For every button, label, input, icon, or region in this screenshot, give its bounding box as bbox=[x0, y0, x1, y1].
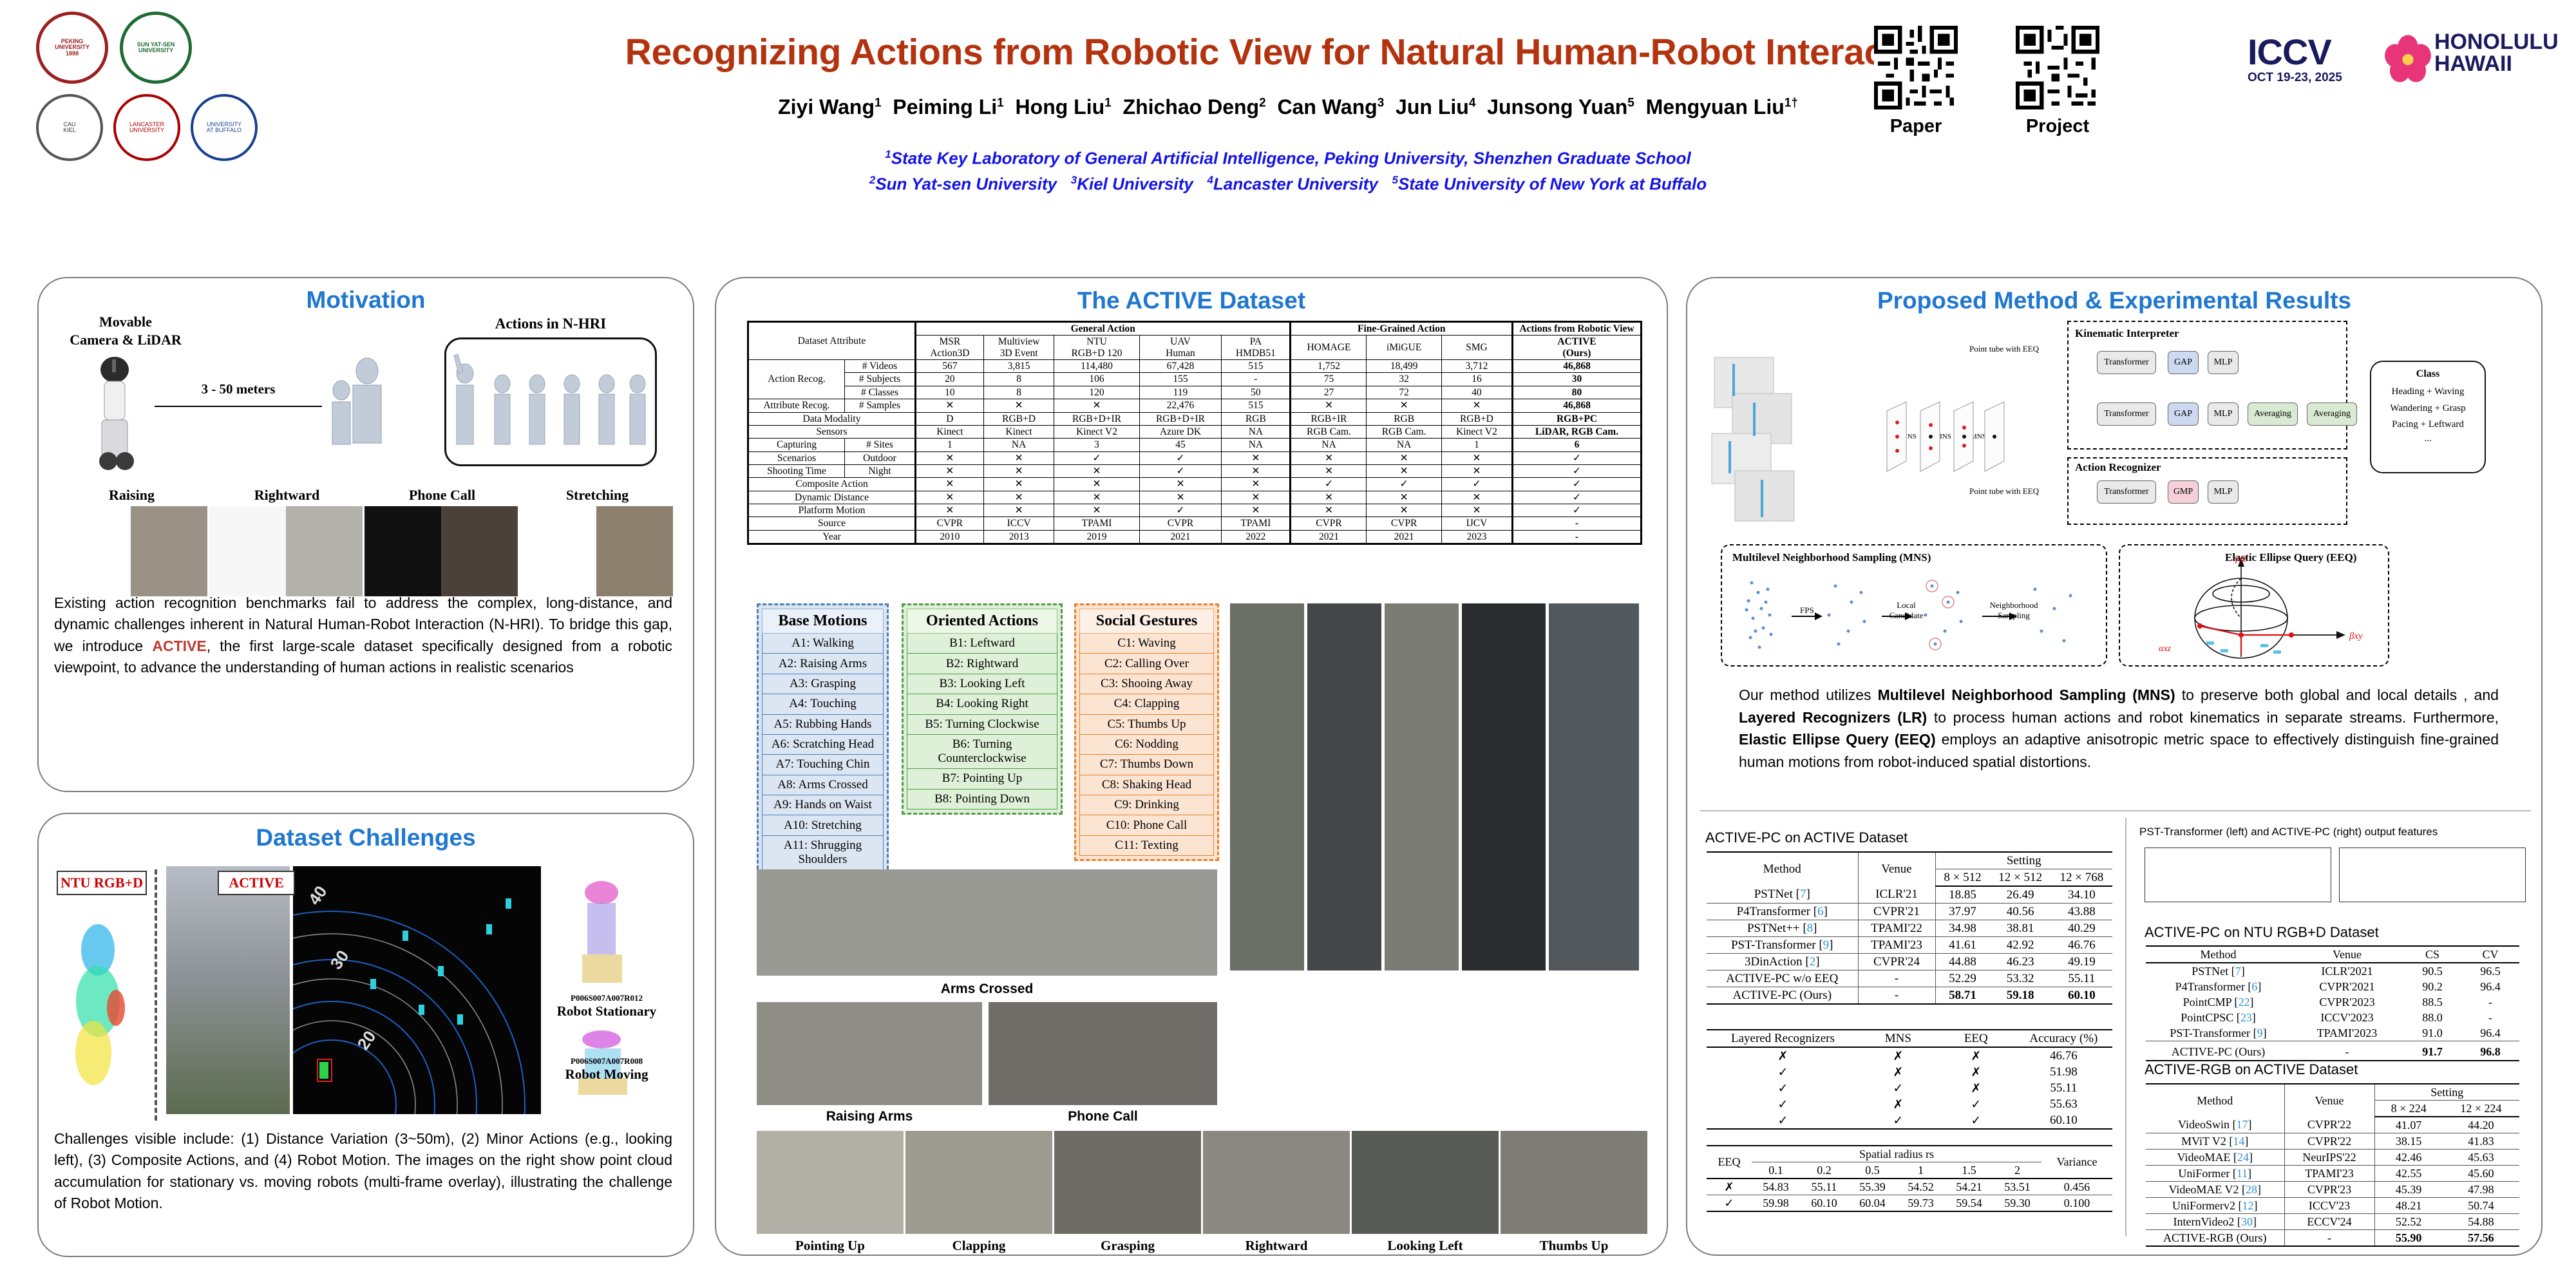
poster-header: PEKING UNIVERSITY 1898 SUN YAT-SEN UNIVE… bbox=[0, 0, 2576, 258]
table-col-pa: PAHMDB51 bbox=[1222, 336, 1291, 360]
table-row: ✗✗✗46.76 bbox=[1707, 1047, 2112, 1064]
transformer-block-mid: Transformer bbox=[2097, 402, 2156, 426]
gallery-label-1: Rightward bbox=[209, 487, 365, 504]
cell-value: 34.98 bbox=[1935, 920, 1989, 937]
row-label: Outdoor bbox=[845, 451, 916, 464]
sample-tile bbox=[1203, 1131, 1350, 1234]
cell-variance: 0.100 bbox=[2041, 1195, 2112, 1212]
rgb-col-setting: Setting bbox=[2374, 1084, 2519, 1101]
table-cell: ✕ bbox=[1054, 491, 1139, 504]
author-item: Can Wang3 bbox=[1277, 95, 1384, 118]
affiliation-2-text: Sun Yat-sen University bbox=[875, 175, 1057, 194]
badge-active: ACTIVE bbox=[218, 871, 295, 895]
table-cell: ✕ bbox=[1441, 464, 1512, 477]
point-tube-eeq-label-top: Point tube with EEQ bbox=[1969, 344, 2039, 354]
cell-value: 54.88 bbox=[2443, 1214, 2519, 1230]
logo-sun-yat-sen-university: SUN YAT-SEN UNIVERSITY bbox=[120, 12, 192, 84]
method-title: Proposed Method & Experimental Results bbox=[1686, 287, 2543, 314]
cell-cv: 96.5 bbox=[2461, 963, 2519, 979]
cell-value: 45.39 bbox=[2374, 1182, 2443, 1198]
cell-value: 44.88 bbox=[1935, 954, 1989, 971]
ntu-pointcloud-icon bbox=[58, 905, 142, 1111]
affiliation-3-text: Kiel University bbox=[1077, 175, 1193, 194]
table-cell: 67,428 bbox=[1139, 360, 1222, 373]
cell-method: PointCMP [22] bbox=[2146, 994, 2291, 1010]
table-cell: 16 bbox=[1441, 373, 1512, 386]
table-group-general: General Action bbox=[916, 322, 1291, 336]
cell-method: PSTNet [7] bbox=[1707, 886, 1858, 904]
affiliation-4-sup: 4 bbox=[1207, 174, 1213, 186]
qr-code-project[interactable] bbox=[2016, 26, 2099, 109]
col-mns: MNS bbox=[1859, 1030, 1937, 1047]
gap-block-top: GAP bbox=[2168, 351, 2199, 374]
table-cell: Kinect V2 bbox=[1441, 425, 1512, 438]
challenges-divider bbox=[155, 869, 157, 1121]
class-output-title: Class bbox=[2371, 368, 2485, 380]
method-paragraph-0: Our method utilizes bbox=[1739, 687, 1878, 703]
table-cell: 2010 bbox=[916, 530, 984, 544]
category-item: B8: Pointing Down bbox=[907, 790, 1057, 810]
col-accuracy: Accuracy (%) bbox=[2015, 1030, 2112, 1047]
cell-cs: 91.7 bbox=[2403, 1041, 2461, 1061]
method-paragraph-2: to preserve both global and local detail… bbox=[2175, 687, 2499, 703]
table-cell: ✕ bbox=[1291, 491, 1367, 504]
logo-lancaster-university: LANCASTER UNIVERSITY bbox=[113, 94, 180, 161]
table-cell: 155 bbox=[1139, 373, 1222, 386]
table-cell: ✕ bbox=[1367, 464, 1441, 477]
affiliation-line-1: 1State Key Laboratory of General Artific… bbox=[451, 148, 2125, 169]
cell-venue: TPAMI'23 bbox=[1858, 937, 1935, 954]
results-horizontal-divider bbox=[1700, 810, 2531, 811]
class-output-box: Class Heading + Waving Wandering + Grasp… bbox=[2370, 361, 2486, 473]
table-row: Data ModalityDRGB+DRGB+D+IRRGB+D+IRRGBRG… bbox=[748, 412, 1642, 425]
point-tube-eeq-label-bottom: Point tube with EEQ bbox=[1969, 486, 2039, 497]
category-item: C11: Texting bbox=[1079, 836, 1214, 856]
table-row: # Classes1081201195027724080 bbox=[748, 386, 1642, 399]
caption-pointing-up: Pointing Up bbox=[757, 1238, 904, 1254]
cell-venue: - bbox=[1858, 987, 1935, 1005]
caption-raising-arms: Raising Arms bbox=[757, 1109, 982, 1124]
category-item: A9: Hands on Waist bbox=[762, 795, 884, 815]
table-cell: Kinect bbox=[916, 425, 984, 438]
cell-venue: CVPR'22 bbox=[2284, 1133, 2374, 1150]
table-cell: RGB Cam. bbox=[1367, 425, 1441, 438]
mns-step-fps: FPS bbox=[1800, 605, 1814, 616]
cell-method: ACTIVE-PC (Ours) bbox=[1707, 987, 1858, 1005]
gallery-image bbox=[209, 506, 363, 596]
table-cell: 3,815 bbox=[983, 360, 1054, 373]
category-social-gestures-items: C1: WavingC2: Calling OverC3: Shooing Aw… bbox=[1079, 634, 1214, 856]
category-item: A3: Grasping bbox=[762, 674, 884, 694]
cell-eeq: ✗ bbox=[1937, 1047, 2015, 1064]
dataset-sample-phone-call bbox=[989, 1002, 1217, 1105]
table-cell: CVPR bbox=[1291, 517, 1367, 530]
table-cell: ✕ bbox=[1222, 478, 1291, 491]
qr-code-paper[interactable] bbox=[1874, 26, 1958, 109]
qr-paper-label: Paper bbox=[1855, 116, 1977, 137]
author-item: Peiming Li1 bbox=[893, 95, 1003, 118]
eeq-axis-x-label: αxz bbox=[2159, 644, 2171, 654]
eeq-ellipsoid-icon bbox=[2145, 554, 2357, 665]
table-cell: ✕ bbox=[916, 478, 984, 491]
hibiscus-icon bbox=[2383, 33, 2433, 84]
cell-value: 54.52 bbox=[1897, 1179, 1945, 1195]
mns-step-neighborhood-sampling: Neighborhood Sampling bbox=[1985, 600, 2043, 621]
cell-value: 45.60 bbox=[2443, 1166, 2519, 1182]
table-cell: Kinect bbox=[983, 425, 1054, 438]
logo-peking-university-text: PEKING UNIVERSITY 1898 bbox=[55, 39, 90, 57]
cell-method: P4Transformer [6] bbox=[2146, 979, 2291, 994]
caption-arms-crossed: Arms Crossed bbox=[757, 981, 1217, 997]
table-row: ✓✗✗51.98 bbox=[1707, 1064, 2112, 1080]
cell-mns: ✓ bbox=[1859, 1112, 1937, 1129]
table-row: PSTNet [7]ICLR'202190.596.5 bbox=[2146, 963, 2519, 979]
table-cell: 45 bbox=[1139, 439, 1222, 451]
category-item: A11: Shrugging Shoulders bbox=[762, 836, 884, 870]
table-row: ✓59.9860.1060.0459.7359.5459.300.100 bbox=[1707, 1195, 2112, 1212]
robot-illustration bbox=[82, 353, 160, 475]
table-row: Platform Motion✕✕✕✓✕✕✕✕✓ bbox=[748, 504, 1642, 517]
cell-venue: TPAMI'23 bbox=[2284, 1166, 2374, 1182]
kinematic-interpreter-box bbox=[2067, 321, 2347, 450]
robot-moving-id: P006S007A007R008 bbox=[549, 1056, 665, 1066]
category-item: B5: Turning Clockwise bbox=[907, 715, 1057, 735]
table-cell: 75 bbox=[1291, 373, 1367, 386]
results-table-pc-active: Method Venue Setting 8 × 512 12 × 512 12… bbox=[1707, 851, 2112, 1005]
cell-value: 55.39 bbox=[1848, 1179, 1897, 1195]
table-cell: 2019 bbox=[1054, 530, 1139, 544]
cell-venue: ECCV'24 bbox=[2284, 1214, 2374, 1230]
table-row: UniFormer [11]TPAMI'2342.5545.60 bbox=[2146, 1166, 2519, 1182]
cell-value: 50.74 bbox=[2443, 1198, 2519, 1214]
table-row: VideoMAE V2 [28]CVPR'2345.3947.98 bbox=[2146, 1182, 2519, 1198]
table-cell: 18,499 bbox=[1367, 360, 1441, 373]
rgb-setting-12x224: 12 × 224 bbox=[2443, 1101, 2519, 1117]
cell-value: 38.15 bbox=[2374, 1133, 2443, 1150]
table-cell: NA bbox=[1367, 439, 1441, 451]
rgb-setting-8x224: 8 × 224 bbox=[2374, 1101, 2443, 1117]
cell-venue: - bbox=[2291, 1041, 2403, 1061]
mns-step-neighborhood-l1: Neighborhood bbox=[1985, 600, 2043, 611]
caption-thumbs-up: Thumbs Up bbox=[1501, 1238, 1647, 1254]
table-cell: ✕ bbox=[916, 451, 984, 464]
table-cell: 1,752 bbox=[1291, 360, 1367, 373]
category-social-gestures-title: Social Gestures bbox=[1079, 609, 1214, 634]
cell-method: PSTNet++ [8] bbox=[1707, 920, 1858, 937]
cell-method: PST-Transformer [9] bbox=[1707, 937, 1858, 954]
cell-accuracy: 55.63 bbox=[2015, 1096, 2112, 1112]
table-cell: 80 bbox=[1513, 386, 1642, 399]
table-cell: ✓ bbox=[1513, 464, 1642, 477]
table-cell: ✕ bbox=[983, 451, 1054, 464]
logo-university-at-buffalo-text: UNIVERSITY AT BUFFALO bbox=[207, 122, 241, 134]
table-cell: 2021 bbox=[1367, 530, 1441, 544]
author-item: Zhichao Deng2 bbox=[1123, 95, 1266, 118]
venue-line-1: HONOLULU bbox=[2434, 31, 2559, 53]
table-cell: TPAMI bbox=[1222, 517, 1291, 530]
ntu-head-row: Method Venue CS CV bbox=[2146, 946, 2519, 963]
cell-value: 54.83 bbox=[1752, 1179, 1800, 1195]
cell-method: PST-Transformer [9] bbox=[2146, 1025, 2291, 1041]
table-cell: 515 bbox=[1222, 399, 1291, 412]
col-spatial-radius: Spatial radius rs bbox=[1752, 1146, 2041, 1162]
table-cell: 120 bbox=[1054, 386, 1139, 399]
table-col-msr: MSRAction3D bbox=[916, 336, 984, 360]
table-cell: 10 bbox=[916, 386, 984, 399]
qr-project-icon bbox=[2016, 26, 2099, 109]
cell-value: 47.98 bbox=[2443, 1182, 2519, 1198]
method-paragraph-5: Elastic Ellipse Query (EEQ) bbox=[1739, 731, 1936, 748]
row-label: # Subjects bbox=[845, 373, 916, 386]
table-cell: 40 bbox=[1441, 386, 1512, 399]
table-cell: Kinect V2 bbox=[1054, 425, 1139, 438]
table-col-ntu: NTURGB+D 120 bbox=[1054, 336, 1139, 360]
qr-project-label: Project bbox=[1996, 116, 2119, 137]
cell-venue: ICLR'2021 bbox=[2291, 963, 2403, 979]
results-table-ablation: Layered Recognizers MNS EEQ Accuracy (%)… bbox=[1707, 1029, 2112, 1130]
table-row: PointCMP [22]CVPR'202388.5- bbox=[2146, 994, 2519, 1010]
cell-value: 54.21 bbox=[1945, 1179, 1993, 1195]
dataset-sample-col-right-2 bbox=[1307, 603, 1381, 971]
table-cell: ✕ bbox=[983, 464, 1054, 477]
mns-step-local-candidate-l2: Candidate bbox=[1884, 611, 1929, 621]
cell-value: 55.90 bbox=[2374, 1230, 2443, 1247]
row-label: # Classes bbox=[845, 386, 916, 399]
category-item: A5: Rubbing Hands bbox=[762, 715, 884, 735]
category-item: C8: Shaking Head bbox=[1079, 775, 1214, 795]
table-row: PointCPSC [23]ICCV'202388.0- bbox=[2146, 1010, 2519, 1025]
venue-city: HONOLULU HAWAII bbox=[2434, 31, 2559, 75]
sample-tile bbox=[1054, 1131, 1201, 1234]
dataset-table-body: Action Recog.# Videos5673,815114,48067,4… bbox=[748, 360, 1642, 544]
cell-cv: 96.8 bbox=[2461, 1041, 2519, 1061]
table-row: Capturing# Sites1NA345NANANA16 bbox=[748, 439, 1642, 451]
caption-phone-call: Phone Call bbox=[989, 1109, 1217, 1124]
distance-arrow bbox=[155, 406, 322, 407]
radius-1: 1 bbox=[1897, 1162, 1945, 1179]
cell-lr: ✓ bbox=[1707, 1080, 1859, 1096]
category-item: B1: Leftward bbox=[907, 634, 1057, 654]
class-output-item: Heading + Waving bbox=[2371, 384, 2485, 401]
author-item: Jun Liu4 bbox=[1396, 95, 1475, 118]
cell-mns: ✗ bbox=[1859, 1047, 1937, 1064]
cell-value: 60.10 bbox=[1800, 1195, 1848, 1212]
table-cell: RGB bbox=[1367, 412, 1441, 425]
eeq-axis-xy-label: βxy bbox=[2349, 631, 2363, 642]
motivation-title: Motivation bbox=[37, 287, 694, 314]
ntu-col-venue: Venue bbox=[2291, 946, 2403, 963]
table-group-finegrained: Fine-Grained Action bbox=[1291, 322, 1513, 336]
cell-cv: - bbox=[2461, 1010, 2519, 1025]
table-cell: ✕ bbox=[916, 491, 984, 504]
affiliation-4-text: Lancaster University bbox=[1213, 175, 1378, 194]
table-cell: NA bbox=[1222, 439, 1291, 451]
cell-value: 42.46 bbox=[2374, 1150, 2443, 1166]
cell-value: 46.76 bbox=[2051, 937, 2112, 954]
method-paragraph: Our method utilizes Multilevel Neighborh… bbox=[1739, 684, 2499, 773]
table-cell: ✕ bbox=[1441, 451, 1512, 464]
table-cell: ✕ bbox=[1139, 491, 1222, 504]
category-item: C2: Calling Over bbox=[1079, 654, 1214, 674]
dataset-sample-col-right-3 bbox=[1385, 603, 1459, 971]
col-method: Method bbox=[1707, 852, 1858, 886]
mns-step-local-candidate-l1: Local bbox=[1884, 600, 1929, 611]
cell-eeq: ✗ bbox=[1937, 1080, 2015, 1096]
results-title-ntu: ACTIVE-PC on NTU RGB+D Dataset bbox=[2145, 924, 2379, 941]
row-group-label: Action Recog. bbox=[748, 360, 845, 399]
table-cell: ✕ bbox=[1054, 464, 1139, 477]
affiliation-5-text: State University of New York at Buffalo bbox=[1398, 175, 1707, 194]
cell-venue: CVPR'21 bbox=[1858, 904, 1935, 920]
cell-value: 40.56 bbox=[1989, 904, 2050, 920]
table-cell: ✕ bbox=[916, 504, 984, 517]
row-label: # Samples bbox=[845, 399, 916, 412]
cell-value: 59.30 bbox=[1993, 1195, 2041, 1212]
cell-value: 59.98 bbox=[1752, 1195, 1800, 1212]
table-row: ✓✓✗55.11 bbox=[1707, 1080, 2112, 1096]
table-row: ✗54.8355.1155.3954.5254.2153.510.456 bbox=[1707, 1179, 2112, 1195]
cell-value: 46.23 bbox=[1989, 954, 2050, 971]
averaging-block-1: Averaging bbox=[2248, 402, 2298, 426]
challenges-paragraph: Challenges visible include: (1) Distance… bbox=[54, 1128, 672, 1214]
table-row: VideoSwin [17]CVPR'2241.0744.20 bbox=[2146, 1117, 2519, 1133]
dataset-sample-col-right bbox=[1230, 603, 1304, 971]
class-output-item: Wandering + Grasp bbox=[2371, 401, 2485, 417]
category-item: C6: Nodding bbox=[1079, 735, 1214, 755]
gallery-label-2: Phone Call bbox=[365, 487, 520, 504]
table-cell: ✓ bbox=[1139, 464, 1222, 477]
table-cell: RGB+D+IR bbox=[1139, 412, 1222, 425]
table-row: ACTIVE-PC (Ours)-58.7159.1860.10 bbox=[1707, 987, 2112, 1005]
category-item: A1: Walking bbox=[762, 634, 884, 654]
cell-cv: - bbox=[2461, 994, 2519, 1010]
cell-mns: ✗ bbox=[1859, 1096, 1937, 1112]
cell-method: PSTNet [7] bbox=[2146, 963, 2291, 979]
mlp-block-bottom: MLP bbox=[2208, 480, 2239, 504]
table-col-uav: UAVHuman bbox=[1139, 336, 1222, 360]
lidar-rings-icon bbox=[293, 866, 541, 1114]
category-item: C5: Thumbs Up bbox=[1079, 715, 1214, 735]
motivation-accent-active: ACTIVE bbox=[152, 638, 206, 654]
table-row: VideoMAE [24]NeurIPS'2242.4645.63 bbox=[2146, 1150, 2519, 1166]
table-cell: ✕ bbox=[1222, 491, 1291, 504]
cell-venue: NeurIPS'22 bbox=[2284, 1150, 2374, 1166]
table-cell: 2022 bbox=[1222, 530, 1291, 544]
table-cell: 119 bbox=[1139, 386, 1222, 399]
venue-line-2: HAWAII bbox=[2434, 53, 2559, 75]
category-item: C3: Shooing Away bbox=[1079, 674, 1214, 694]
category-oriented-actions-title: Oriented Actions bbox=[907, 609, 1057, 634]
cell-method: P4Transformer [6] bbox=[1707, 904, 1858, 920]
affiliation-3-sup: 3 bbox=[1071, 174, 1077, 186]
rgb-col-venue: Venue bbox=[2284, 1084, 2374, 1117]
cell-venue: - bbox=[2284, 1230, 2374, 1247]
category-item: B2: Rightward bbox=[907, 654, 1057, 674]
row-group-label: Attribute Recog. bbox=[748, 399, 845, 412]
category-item: C10: Phone Call bbox=[1079, 815, 1214, 835]
table-cell: Azure DK bbox=[1139, 425, 1222, 438]
challenges-title: Dataset Challenges bbox=[37, 824, 694, 851]
row-label: Composite Action bbox=[748, 478, 916, 491]
table-row: Composite Action✕✕✕✕✕✓✓✓✓ bbox=[748, 478, 1642, 491]
logo-kiel-university-text: CAU KIEL bbox=[63, 122, 76, 134]
category-item: C7: Thumbs Down bbox=[1079, 755, 1214, 775]
actions-people-illustration bbox=[451, 348, 650, 460]
class-output-item: ... bbox=[2371, 433, 2485, 444]
cell-method: InternVideo2 [30] bbox=[2146, 1214, 2284, 1230]
cell-mns: ✗ bbox=[1859, 1064, 1937, 1080]
row-label: Night bbox=[845, 464, 916, 477]
cell-value: 49.19 bbox=[2051, 954, 2112, 971]
table-cell: 50 bbox=[1222, 386, 1291, 399]
row-label: Data Modality bbox=[748, 412, 916, 425]
table-cell: NA bbox=[1291, 439, 1367, 451]
category-item: B6: Turning Counterclockwise bbox=[907, 735, 1057, 769]
category-item: A8: Arms Crossed bbox=[762, 775, 884, 795]
col-eeq: EEQ bbox=[1937, 1030, 2015, 1047]
caption-looking-left: Looking Left bbox=[1352, 1238, 1499, 1254]
cell-value: 42.55 bbox=[2374, 1166, 2443, 1182]
cell-value: 44.20 bbox=[2443, 1117, 2519, 1133]
cell-accuracy: 46.76 bbox=[2015, 1047, 2112, 1064]
category-item: A6: Scratching Head bbox=[762, 735, 884, 755]
setting-12x512: 12 × 512 bbox=[1989, 869, 2050, 887]
lidar-range-image: 40 30 20 bbox=[293, 866, 541, 1114]
table-cell: 3,712 bbox=[1441, 360, 1512, 373]
dataset-title: The ACTIVE Dataset bbox=[715, 287, 1668, 314]
cell-value: 53.51 bbox=[1993, 1179, 2041, 1195]
table-cell: ✕ bbox=[1291, 464, 1367, 477]
cell-venue: TPAMI'22 bbox=[1858, 920, 1935, 937]
cell-venue: CVPR'24 bbox=[1858, 954, 1935, 971]
point-tube-slices-icon bbox=[1884, 399, 2007, 483]
robot-stationary-pointcloud bbox=[555, 873, 652, 992]
dataset-bottom-captions: Pointing Up Clapping Grasping Rightward … bbox=[757, 1238, 1647, 1254]
sample-tile bbox=[757, 1131, 904, 1234]
class-output-item: Pacing + Leftward bbox=[2371, 417, 2485, 433]
table-row: Dynamic Distance✕✕✕✕✕✕✕✕✓ bbox=[748, 491, 1642, 504]
table-cell: RGB+D bbox=[1441, 412, 1512, 425]
row-label: Platform Motion bbox=[748, 504, 916, 517]
pipeline-frames-icon bbox=[1707, 351, 1880, 531]
cell-value: 59.54 bbox=[1945, 1195, 1993, 1212]
table-row: Action Recog.# Videos5673,815114,48067,4… bbox=[748, 360, 1642, 373]
table-row: P4Transformer [6]CVPR'202190.296.4 bbox=[2146, 979, 2519, 994]
table-cell: 32 bbox=[1367, 373, 1441, 386]
cell-value: 57.56 bbox=[2443, 1230, 2519, 1247]
table-cell: ✓ bbox=[1513, 478, 1642, 491]
logo-lancaster-university-text: LANCASTER UNIVERSITY bbox=[129, 122, 164, 134]
category-item: B7: Pointing Up bbox=[907, 769, 1057, 789]
cell-value: 60.10 bbox=[2051, 987, 2112, 1005]
gap-block-mid: GAP bbox=[2168, 402, 2199, 426]
category-item: C1: Waving bbox=[1079, 634, 1214, 654]
radius-2: 2 bbox=[1993, 1162, 2041, 1179]
cell-cv: 96.4 bbox=[2461, 1025, 2519, 1041]
radius-0.5: 0.5 bbox=[1848, 1162, 1897, 1179]
dataset-sample-col-right-4 bbox=[1462, 603, 1546, 971]
row-group-label: Capturing bbox=[748, 439, 845, 451]
table-cell: 3 bbox=[1054, 439, 1139, 451]
motivation-gallery: Raising Rightward Phone Call Stretching bbox=[54, 487, 676, 596]
table-cell: TPAMI bbox=[1054, 517, 1139, 530]
movable-camera-label: Movable Camera & LiDAR bbox=[45, 313, 206, 348]
table-cell: ✕ bbox=[983, 491, 1054, 504]
cell-venue: CVPR'2021 bbox=[2291, 979, 2403, 994]
row-group-label: Scenarios bbox=[748, 451, 845, 464]
cell-value: 59.73 bbox=[1897, 1195, 1945, 1212]
table-cell: ✓ bbox=[1367, 478, 1441, 491]
